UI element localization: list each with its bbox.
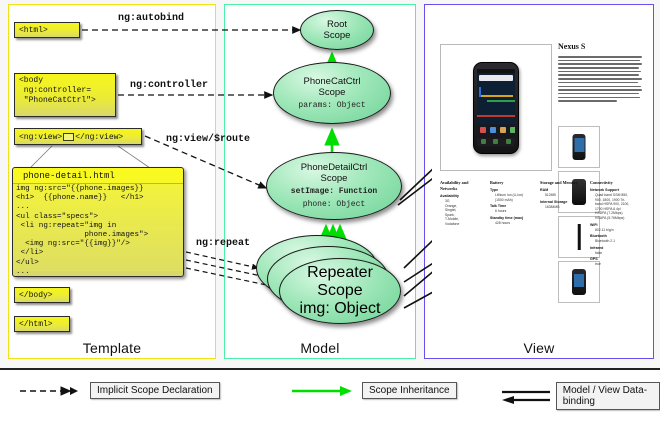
edge-label-repeat: ng:repeat [196, 238, 250, 249]
scope-phonecatctrl: PhoneCatCtrl Scope params: Object [273, 62, 391, 124]
spec-group-value: (1500 mAh) [490, 198, 536, 203]
legend-label-scope-inheritance: Scope Inheritance [362, 382, 457, 399]
view-page-title: Nexus S [558, 42, 585, 51]
scope-repeater-name: Repeater Scope [307, 264, 373, 300]
scope-repeater-stack: Repeater Scope img: Object [256, 232, 406, 340]
diagram-canvas: Template Model View [0, 0, 660, 420]
phone-hardware-buttons [477, 138, 515, 146]
template-note-phone-detail: phone-detail.html img ng:src="{{phone.im… [12, 167, 184, 277]
phone-statusbar [477, 69, 515, 73]
code-ngview: <ng:view></ng:view> [14, 128, 142, 145]
spec-column-heading: Availability and Networks [440, 180, 486, 192]
spec-group-value: 6 hours [490, 209, 536, 214]
code-body-open: <body ng:controller= "PhoneCatCtrl"> [14, 73, 116, 117]
panel-view-label: View [425, 340, 653, 356]
scope-root-name: Root Scope [324, 19, 351, 41]
phone-searchbar [479, 75, 513, 81]
spec-group-value: 802.11 b/g/n [590, 228, 636, 233]
spec-column-0: Availability and NetworksAvailability3GO… [440, 180, 486, 227]
legend-double-arrow-icon [500, 386, 550, 406]
spec-group-value: 16384MB [540, 205, 586, 210]
scope-repeater-front: Repeater Scope img: Object [279, 258, 401, 324]
scope-repeater-prop: img: Object [300, 300, 381, 318]
wallpaper-stripe-4 [477, 115, 515, 117]
spec-column-2: Storage and MemoryRAM512MBInternal Stora… [540, 180, 586, 209]
note-code: img ng:src="{{phone.images}} <h1> {{phon… [13, 183, 183, 271]
legend-green-arrow-icon [290, 384, 354, 398]
scope-phonedetailctrl-prop-phone: phone: Object [303, 200, 365, 210]
scope-phonedetailctrl-prop-setimage: setImage: Function [291, 187, 377, 197]
dock-icon-4 [510, 127, 515, 133]
spec-column-1: BatteryTypeLithium Ion (Li-Ion)(1500 mAh… [490, 180, 536, 225]
spec-table: Availability and NetworksAvailability3GO… [440, 180, 642, 267]
wallpaper-stripe-1 [481, 95, 513, 97]
scope-phonedetailctrl-name: PhoneDetailCtrl Scope [301, 162, 368, 184]
spec-column-heading: Storage and Memory [540, 180, 586, 186]
thumbnail-1[interactable] [558, 126, 600, 168]
phone-screen [477, 69, 515, 135]
spec-group-value: Vodafone [440, 222, 486, 227]
scope-phonecatctrl-name: PhoneCatCtrl Scope [303, 76, 360, 98]
wallpaper-stripe-2 [487, 100, 515, 102]
dock-icon-3 [500, 127, 506, 133]
code-html-open: <html> [14, 22, 80, 38]
thumbnail-4[interactable] [558, 261, 600, 303]
ngview-slot-icon [63, 133, 74, 141]
scope-phonedetailctrl: PhoneDetailCtrl Scope setImage: Function… [266, 152, 402, 220]
edge-label-autobind: ng:autobind [118, 13, 184, 24]
spec-group-value: Bluetooth 2.1 [590, 239, 636, 244]
spec-group-value: 512MB [540, 193, 586, 198]
code-body-close: </body> [14, 287, 70, 303]
panel-model-label: Model [225, 340, 415, 356]
dock-icon-2 [490, 127, 496, 133]
legend-label-data-binding: Model / View Data-binding [556, 382, 660, 410]
ngview-open-tag: <ng:view> [19, 133, 62, 142]
phone-dock [477, 124, 515, 135]
panel-template-label: Template [9, 340, 215, 356]
spec-column-3: ConnectivityNetwork SupportQuad band GSM… [590, 180, 636, 267]
spec-group-value: 428 hours [490, 221, 536, 226]
spec-group-value: false [590, 251, 636, 256]
spec-group-value: true [590, 262, 636, 267]
spec-group-value: HSUPA (5.76Mbps) [590, 216, 636, 221]
hero-image-frame [440, 44, 552, 171]
scope-root: Root Scope [300, 10, 374, 50]
phone-hero-image [473, 62, 519, 154]
legend-item-implicit-scope: Implicit Scope Declaration [18, 382, 220, 399]
scope-phonecatctrl-prop: params: Object [298, 101, 365, 111]
ngview-close-tag: </ng:view> [75, 133, 123, 142]
spec-column-heading: Battery [490, 180, 536, 186]
code-html-close: </html> [14, 316, 70, 332]
legend-dashed-arrow-icon [18, 384, 82, 398]
edge-label-ngview: ng:view/$route [166, 134, 250, 145]
edge-label-controller: ng:controller [130, 80, 208, 91]
view-description-paragraph [558, 56, 642, 104]
spec-column-heading: Connectivity [590, 180, 636, 186]
legend-item-scope-inheritance: Scope Inheritance [290, 382, 457, 399]
note-title: phone-detail.html [13, 168, 183, 183]
legend-label-implicit-scope: Implicit Scope Declaration [90, 382, 220, 399]
legend-item-data-binding: Model / View Data-binding [500, 382, 660, 410]
dock-icon-1 [480, 127, 486, 133]
view-rendered-page: Nexus S Availability and NetworksAvailab… [432, 12, 646, 342]
legend: Implicit Scope Declaration Scope Inherit… [0, 368, 660, 422]
